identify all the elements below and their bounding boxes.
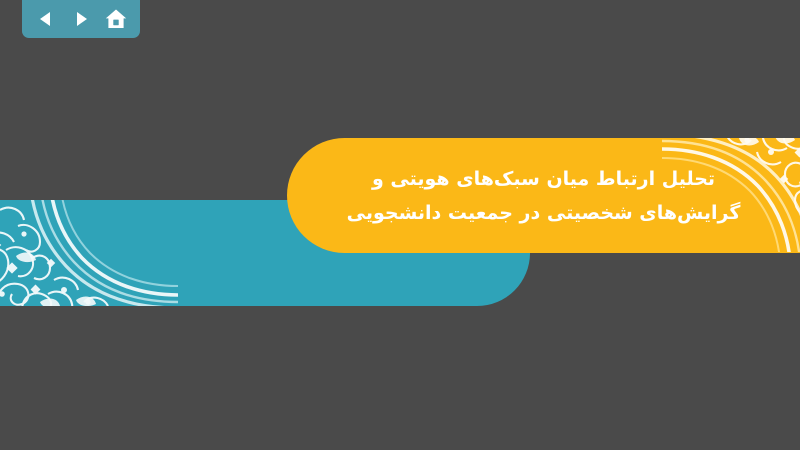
forward-button[interactable] — [67, 5, 95, 33]
back-triangle-icon — [36, 9, 56, 29]
home-icon — [104, 7, 128, 31]
back-button[interactable] — [32, 5, 60, 33]
home-button[interactable] — [102, 5, 130, 33]
arabesque-corner-ornament — [662, 138, 800, 252]
forward-triangle-icon — [71, 9, 91, 29]
navigation-bar — [22, 0, 140, 38]
arabesque-corner-ornament — [0, 200, 178, 306]
presentation-slide: تحلیل ارتباط میان سبک‌های هویتی و گرایش‌… — [0, 0, 800, 450]
title-banner — [287, 138, 800, 253]
